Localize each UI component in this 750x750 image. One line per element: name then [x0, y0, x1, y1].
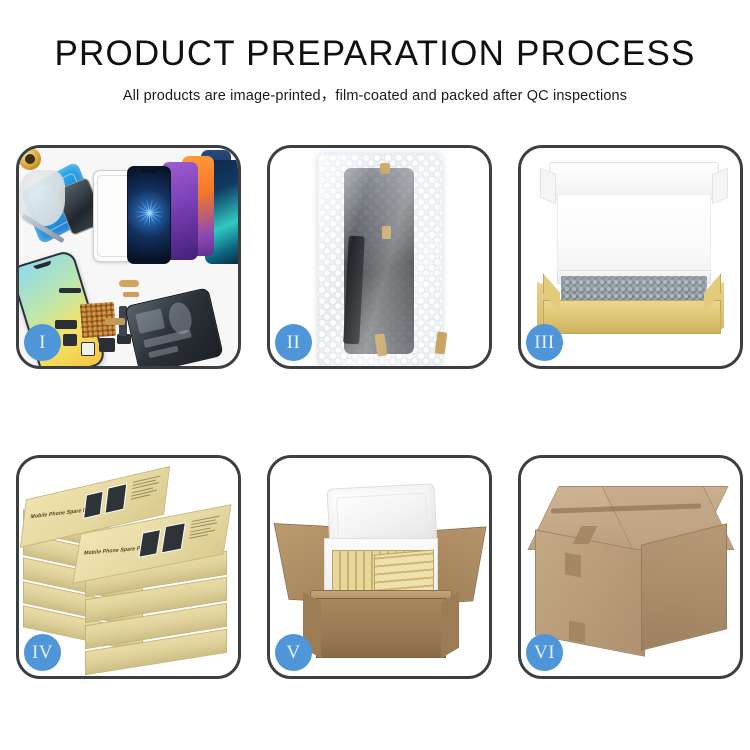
small-part-icon — [119, 280, 139, 287]
process-step-grid: I II — [16, 145, 734, 679]
box-spec-lines — [189, 515, 222, 541]
small-part-icon — [59, 288, 81, 293]
header: PRODUCT PREPARATION PROCESS All products… — [0, 0, 750, 105]
box-artwork-swatch — [138, 529, 161, 558]
crack-burst-icon — [134, 198, 164, 228]
carton-front-icon — [316, 598, 446, 658]
tape-icon — [382, 226, 391, 239]
step-badge-5: V — [275, 634, 312, 671]
tape-icon — [435, 331, 448, 354]
small-part-icon — [81, 342, 95, 356]
step-badge-6: VI — [526, 634, 563, 671]
step-panel-6: VI — [518, 455, 743, 679]
small-part-icon — [63, 334, 77, 346]
bubble-wrap-bag-icon — [318, 154, 442, 366]
carton-tape-icon — [569, 620, 585, 643]
step-badge-3: III — [526, 324, 563, 361]
step-badge-4: IV — [24, 634, 61, 671]
step-panel-1: I — [16, 145, 241, 369]
box-artwork-swatch — [161, 522, 186, 553]
carton-side-icon — [641, 523, 727, 650]
step-panel-3: III — [518, 145, 743, 369]
small-part-icon — [123, 292, 139, 297]
box-artwork-swatch — [83, 491, 104, 519]
small-part-icon — [55, 320, 77, 329]
page-subtitle: All products are image-printed，film-coat… — [0, 84, 750, 105]
product-preparation-infographic: PRODUCT PREPARATION PROCESS All products… — [0, 0, 750, 750]
kraft-box-front-icon — [543, 300, 721, 334]
box-artwork-swatch — [105, 483, 128, 514]
tape-icon — [380, 163, 390, 174]
notch-icon — [141, 169, 158, 173]
small-part-icon — [99, 338, 115, 352]
step-panel-5: V — [267, 455, 492, 679]
page-title: PRODUCT PREPARATION PROCESS — [0, 36, 750, 73]
phone-housing-icon — [124, 287, 224, 366]
box-spec-lines — [131, 475, 163, 502]
speaker-coil-icon — [19, 148, 41, 170]
step-badge-2: II — [275, 324, 312, 361]
step-badge-1: I — [24, 324, 61, 361]
cracked-display-icon — [127, 166, 171, 264]
carton-tape-icon — [565, 552, 581, 577]
small-part-icon — [105, 318, 125, 325]
box-lid-face-icon — [557, 194, 711, 280]
step-panel-2: II — [267, 145, 492, 369]
step-panel-4: Mobile Phone Spare Parts Mobile Phone Sp… — [16, 455, 241, 679]
